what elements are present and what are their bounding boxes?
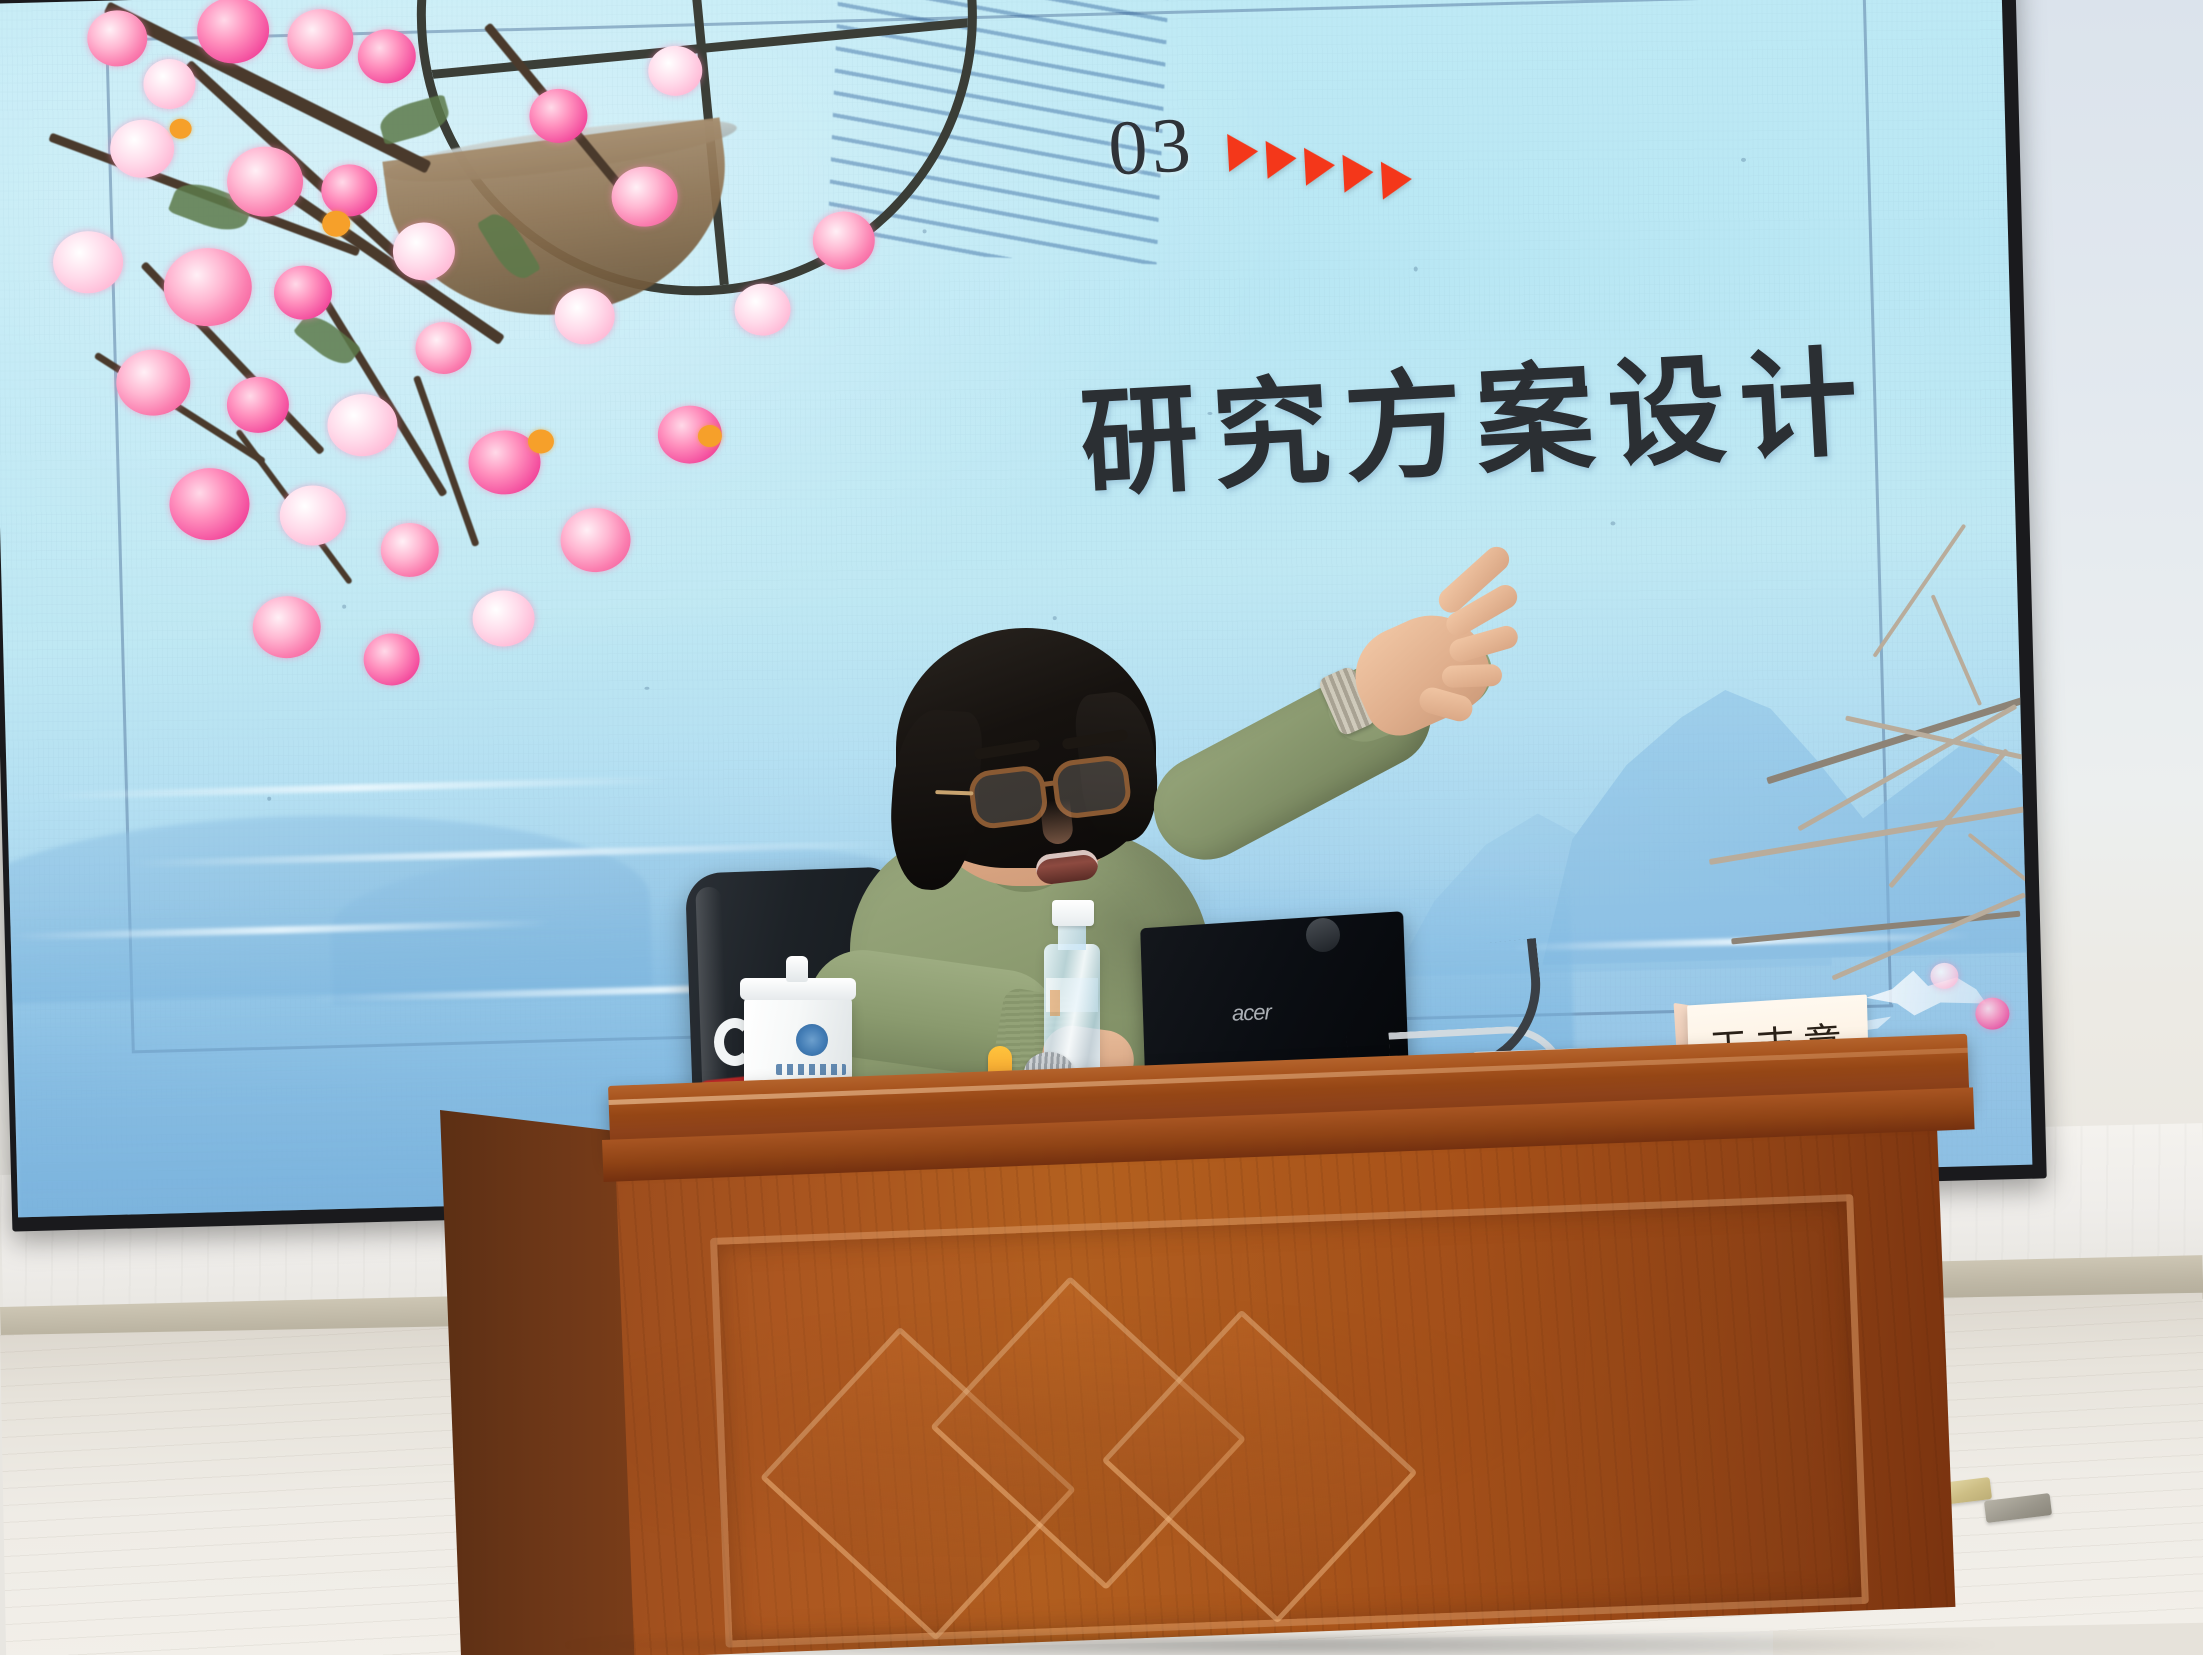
photograph-scene: 03 研究方案设计	[0, 0, 2203, 1655]
podium-shadow	[560, 1630, 2000, 1655]
podium-diamond-group	[0, 0, 2203, 1655]
